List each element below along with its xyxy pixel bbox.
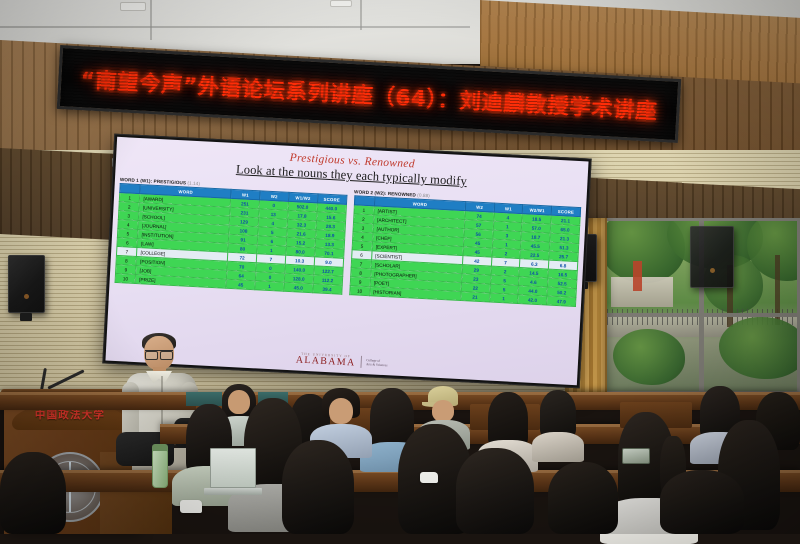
right-table-caption-value: (0.88) bbox=[417, 193, 430, 199]
table-cell-value: 10 bbox=[349, 286, 370, 296]
table-cell-value: 47.9 bbox=[547, 296, 576, 306]
table-cell-value: 1 bbox=[255, 281, 284, 291]
wall-speaker bbox=[8, 255, 45, 313]
person-shoulders bbox=[532, 432, 584, 462]
smartphone[interactable] bbox=[622, 448, 650, 464]
thermos-cap bbox=[152, 444, 168, 451]
table-cell-value: 45.0 bbox=[284, 282, 313, 292]
person-hair bbox=[548, 462, 618, 534]
lecture-hall-scene: “南望今声”外语论坛系列讲座（64）：刘迪麟教授学术讲座 bbox=[0, 0, 800, 534]
logo-line2: ALABAMA bbox=[296, 355, 356, 368]
table-cell-value: 1 bbox=[489, 293, 518, 303]
glasses-icon bbox=[145, 350, 173, 357]
person-hair bbox=[0, 452, 66, 534]
person-hair bbox=[660, 470, 744, 534]
laptop-screen[interactable] bbox=[210, 448, 256, 488]
speaker-mount bbox=[20, 313, 32, 321]
person-head bbox=[329, 398, 353, 424]
table-cell-value: 42.0 bbox=[518, 295, 547, 305]
right-table-block: WORD 2 (W2): RENOWNED (0.88) WORD bbox=[349, 189, 582, 307]
left-data-table: WORD W1 W2 W1/W2 SCORE 1[AWARD]2510502.0… bbox=[115, 183, 347, 295]
logo-college-line2: Arts & Sciences bbox=[366, 362, 388, 368]
person-hair bbox=[540, 390, 576, 438]
table-cell-value: 39.4 bbox=[312, 284, 341, 294]
table-cell-value: 10 bbox=[115, 274, 136, 284]
wall-speaker bbox=[690, 226, 734, 288]
tissue-pack bbox=[420, 472, 438, 483]
person-head bbox=[432, 400, 454, 422]
ceiling-seam bbox=[0, 26, 470, 28]
person-hair bbox=[282, 440, 354, 534]
logo-divider bbox=[360, 356, 361, 368]
person-head bbox=[228, 390, 250, 414]
ceiling-light bbox=[330, 0, 352, 7]
ceiling-seam bbox=[150, 0, 152, 40]
table-cell-value: 21 bbox=[460, 292, 489, 302]
table-cell-value: 45 bbox=[226, 279, 255, 289]
thermos bbox=[152, 448, 168, 488]
slide-tables: WORD 1 (W1): PRESTIGIOUS (1.14) WORD bbox=[115, 177, 582, 307]
right-data-table: WORD W2 W1 W2/W1 SCORE 1[ARTIST]74418.52… bbox=[349, 195, 581, 307]
left-table-block: WORD 1 (W1): PRESTIGIOUS (1.14) WORD bbox=[115, 177, 348, 295]
ceiling-light bbox=[120, 2, 146, 11]
tissue-pack bbox=[180, 500, 202, 513]
laptop-base[interactable] bbox=[204, 488, 262, 495]
person-hair bbox=[456, 448, 534, 534]
wall-panel bbox=[0, 148, 112, 240]
left-table-caption-value: (1.14) bbox=[187, 181, 200, 187]
